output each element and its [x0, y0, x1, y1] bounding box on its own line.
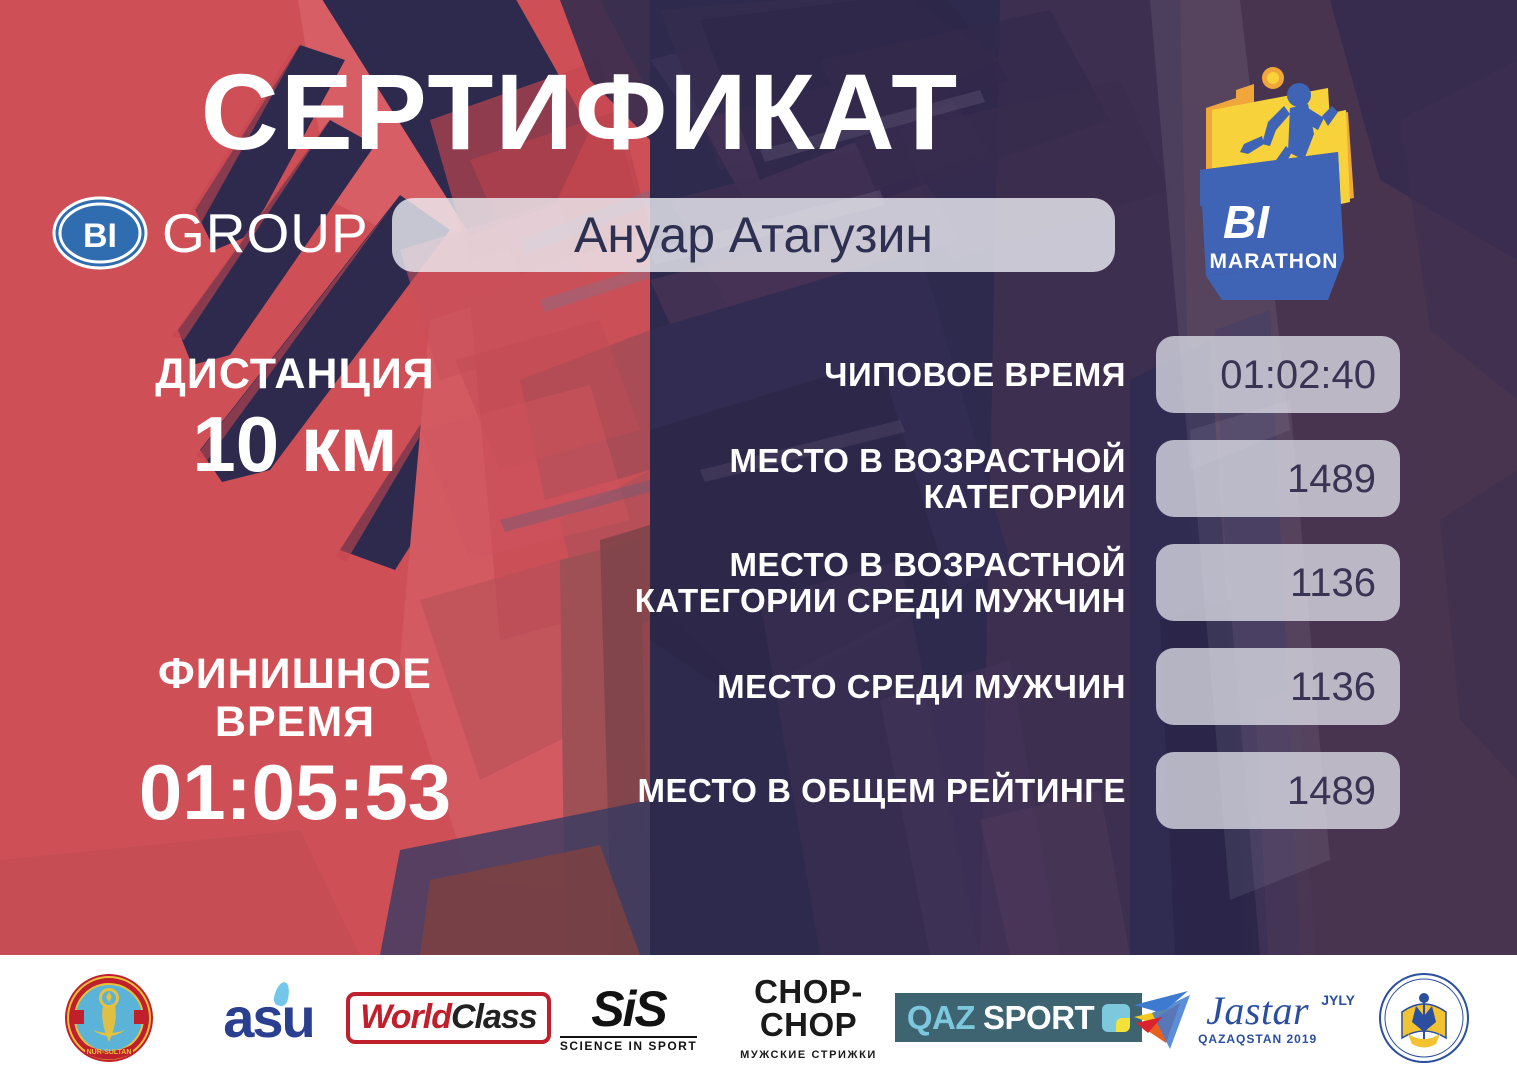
stat-value: 1136: [1290, 563, 1400, 603]
chop-chop-subtext: МУЖСКИЕ СТРИЖКИ: [709, 1050, 909, 1061]
nur-sultan-label: NUR-SULTAN: [86, 1049, 131, 1056]
qazsport-mark-icon: [1102, 1004, 1130, 1032]
jastar-jyly-text: JYLY: [1321, 993, 1355, 1007]
sis-subtext: SCIENCE IN SPORT: [560, 1036, 697, 1052]
sis-wordmark: SiS SCIENCE IN SPORT: [560, 984, 697, 1052]
stat-label: МЕСТО СРЕДИ МУЖЧИН: [520, 669, 1156, 705]
participant-name: Ануар Атагузин: [574, 210, 933, 260]
sponsor-sis: SiS SCIENCE IN SPORT: [549, 970, 709, 1066]
stat-label: ЧИПОВОЕ ВРЕМЯ: [520, 357, 1156, 393]
sponsor-jastar: Jastar QAZAQSTAN 2019 JYLY: [1129, 970, 1359, 1066]
asu-text: asu: [223, 986, 314, 1049]
stat-row: МЕСТО В ВОЗРАСТНОЙ КАТЕГОРИИ СРЕДИ МУЖЧИ…: [520, 544, 1400, 621]
stat-value-box: 1136: [1156, 648, 1400, 725]
sponsor-world-class: WorldClass: [349, 970, 549, 1066]
certificate-root: СЕРТИФИКАТ BI GROUP Ануар Атагузин: [0, 0, 1517, 1080]
world-class-text-a: World: [360, 998, 451, 1036]
stat-value-box: 1136: [1156, 544, 1400, 621]
bi-marathon-logo: BI MARATHON: [1178, 60, 1368, 305]
left-stat-value: 10 км: [85, 404, 505, 485]
page-title: СЕРТИФИКАТ: [0, 58, 1160, 166]
left-stat-distance: ДИСТАНЦИЯ 10 км: [85, 350, 505, 485]
jastar-subtext: QAZAQSTAN 2019: [1198, 1033, 1317, 1045]
bi-group-logo: BI GROUP: [52, 196, 369, 270]
sponsor-nur-sultan: NUR-SULTAN: [29, 970, 189, 1066]
qazsport-text-b: SPORT: [983, 1001, 1094, 1034]
chop-chop-wordmark: CHOP-CHOP МУЖСКИЕ СТРИЖКИ: [709, 975, 909, 1061]
stat-label: МЕСТО В ВОЗРАСТНОЙ КАТЕГОРИИ: [520, 443, 1156, 514]
world-class-text-b: Class: [451, 998, 537, 1036]
stat-row: МЕСТО В ВОЗРАСТНОЙ КАТЕГОРИИ 1489: [520, 440, 1400, 517]
sponsor-ministry: [1359, 970, 1489, 1066]
stat-row: МЕСТО В ОБЩЕМ РЕЙТИНГЕ 1489: [520, 752, 1400, 829]
qazsport-text-a: QAZ: [907, 1001, 975, 1034]
stat-row: МЕСТО СРЕДИ МУЖЧИН 1136: [520, 648, 1400, 725]
stat-value-box: 1489: [1156, 440, 1400, 517]
stat-value: 1489: [1287, 459, 1400, 499]
asu-wordmark: asu: [223, 990, 314, 1046]
nur-sultan-emblem-icon: NUR-SULTAN: [63, 972, 155, 1064]
jastar-text: Jastar: [1198, 991, 1317, 1031]
stat-value: 1136: [1290, 667, 1400, 707]
ministry-emblem-icon: [1378, 972, 1470, 1064]
stat-label: МЕСТО В ВОЗРАСТНОЙ КАТЕГОРИИ СРЕДИ МУЖЧИ…: [520, 547, 1156, 618]
chop-chop-text: CHOP-CHOP: [709, 975, 909, 1041]
sponsor-footer: NUR-SULTAN asu WorldClass SiS SCIENCE IN…: [0, 955, 1517, 1080]
left-stat-label: ФИНИШНОЕ ВРЕМЯ: [85, 650, 505, 746]
bi-badge-icon: BI: [52, 196, 148, 270]
left-stat-finish-time: ФИНИШНОЕ ВРЕМЯ 01:05:53: [85, 650, 505, 833]
stat-value: 01:02:40: [1220, 355, 1400, 395]
jastar-lockup: Jastar QAZAQSTAN 2019 JYLY: [1132, 983, 1355, 1053]
qazsport-wordmark: QAZSPORT: [895, 993, 1142, 1042]
marathon-mark-text: BI: [1223, 196, 1270, 248]
stat-value: 1489: [1287, 771, 1400, 811]
stat-label: МЕСТО В ОБЩЕМ РЕЙТИНГЕ: [520, 773, 1156, 809]
sponsor-chop-chop: CHOP-CHOP МУЖСКИЕ СТРИЖКИ: [709, 970, 909, 1066]
bi-group-word: GROUP: [162, 206, 369, 261]
stat-value-box: 1489: [1156, 752, 1400, 829]
participant-name-box: Ануар Атагузин: [392, 198, 1115, 272]
sponsor-qazsport: QAZSPORT: [909, 970, 1129, 1066]
jastar-text-block: Jastar QAZAQSTAN 2019: [1198, 991, 1317, 1045]
right-stats-list: ЧИПОВОЕ ВРЕМЯ 01:02:40 МЕСТО В ВОЗРАСТНО…: [520, 336, 1400, 856]
stat-value-box: 01:02:40: [1156, 336, 1400, 413]
sis-text: SiS: [560, 984, 697, 1034]
world-class-wordmark: WorldClass: [346, 992, 550, 1044]
stat-row: ЧИПОВОЕ ВРЕМЯ 01:02:40: [520, 336, 1400, 413]
bi-badge-text: BI: [83, 217, 117, 255]
sponsor-asu: asu: [189, 970, 349, 1066]
left-stat-value: 01:05:53: [85, 752, 505, 833]
marathon-word-text: MARATHON: [1210, 250, 1339, 273]
jastar-arrow-icon: [1132, 983, 1194, 1053]
left-stat-label: ДИСТАНЦИЯ: [85, 350, 505, 398]
